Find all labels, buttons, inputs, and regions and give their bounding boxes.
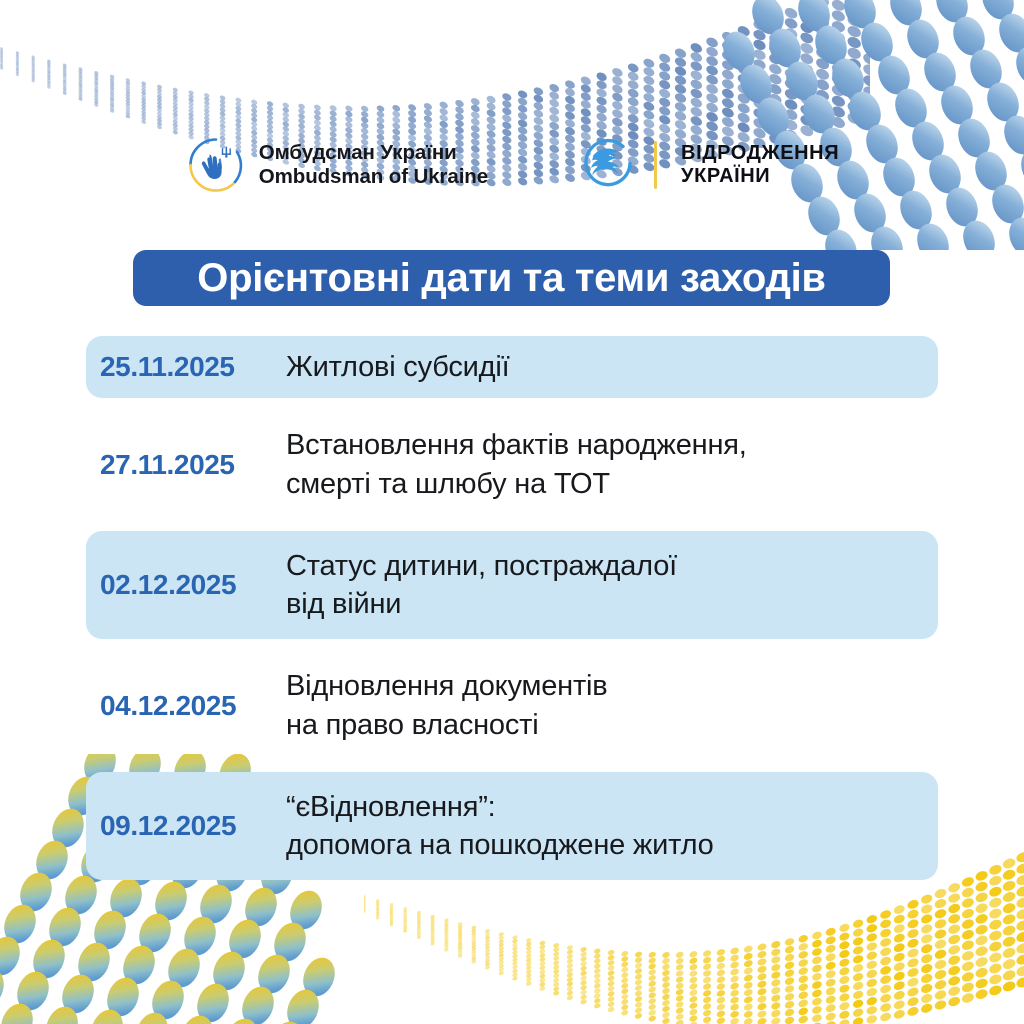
logo-divider bbox=[654, 141, 657, 189]
logo-ombudsman: Омбудсман України Ombudsman of Ukraine bbox=[185, 134, 488, 196]
page-title-banner: Орієнтовні дати та теми заходів bbox=[133, 250, 890, 306]
schedule-row: 25.11.2025Житлові субсидії bbox=[86, 336, 938, 398]
hand-trident-circle-icon bbox=[185, 134, 247, 196]
schedule-row-date: 02.12.2025 bbox=[86, 569, 286, 601]
logo-ombudsman-text: Омбудсман України Ombudsman of Ukraine bbox=[259, 141, 488, 189]
poster-canvas: Омбудсман України Ombudsman of Ukraine В… bbox=[0, 0, 1024, 1024]
logo-ombudsman-line2: Ombudsman of Ukraine bbox=[259, 165, 488, 189]
schedule-row-topic: Житлові субсидії bbox=[286, 348, 938, 386]
schedule-row-topic: Встановлення фактів народження, смерті т… bbox=[286, 426, 938, 503]
schedule-row-date: 09.12.2025 bbox=[86, 810, 286, 842]
schedule-row: 09.12.2025“єВідновлення”: допомога на по… bbox=[86, 772, 938, 881]
schedule-row-date: 25.11.2025 bbox=[86, 351, 286, 383]
schedule-row-date: 27.11.2025 bbox=[86, 449, 286, 481]
schedule-row-date: 04.12.2025 bbox=[86, 690, 286, 722]
schedule-row: 04.12.2025Відновлення документів на прав… bbox=[86, 651, 938, 760]
logo-ombudsman-line1: Омбудсман України bbox=[259, 141, 488, 165]
logo-vidrodzhennia-text: ВІДРОДЖЕННЯ УКРАЇНИ bbox=[681, 142, 839, 188]
schedule-row: 02.12.2025Статус дитини, постраждалої ві… bbox=[86, 531, 938, 640]
logo-vidrodzhennia-line1: ВІДРОДЖЕННЯ bbox=[681, 142, 839, 165]
schedule-row-topic: Відновлення документів на право власност… bbox=[286, 667, 938, 744]
schedule-row-topic: “єВідновлення”: допомога на пошкоджене ж… bbox=[286, 788, 938, 865]
page-title: Орієнтовні дати та теми заходів bbox=[197, 258, 825, 298]
schedule-row: 27.11.2025Встановлення фактів народження… bbox=[86, 410, 938, 519]
bird-circle-icon bbox=[580, 136, 638, 194]
logo-vidrodzhennia: ВІДРОДЖЕННЯ УКРАЇНИ bbox=[580, 136, 839, 194]
schedule-list: 25.11.2025Житлові субсидії27.11.2025Вста… bbox=[86, 336, 938, 892]
logo-strip: Омбудсман України Ombudsman of Ukraine В… bbox=[0, 122, 1024, 208]
logo-vidrodzhennia-line2: УКРАЇНИ bbox=[681, 165, 839, 188]
schedule-row-topic: Статус дитини, постраждалої від війни bbox=[286, 547, 938, 624]
